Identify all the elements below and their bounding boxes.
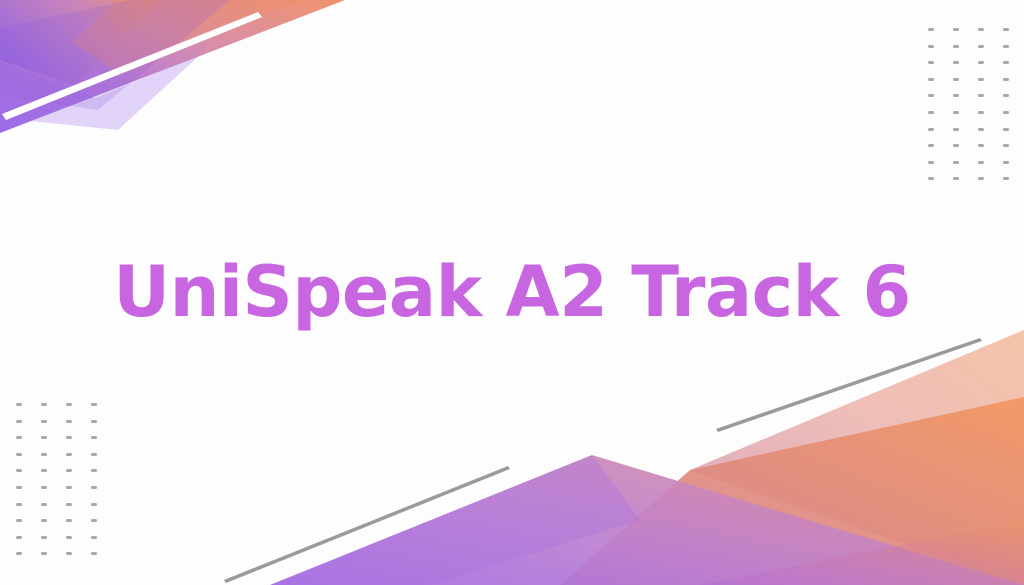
title-slide: UniSpeak A2 Track 6 [0, 0, 1024, 585]
page-title: UniSpeak A2 Track 6 [113, 254, 911, 331]
title-area: UniSpeak A2 Track 6 [0, 0, 1024, 585]
